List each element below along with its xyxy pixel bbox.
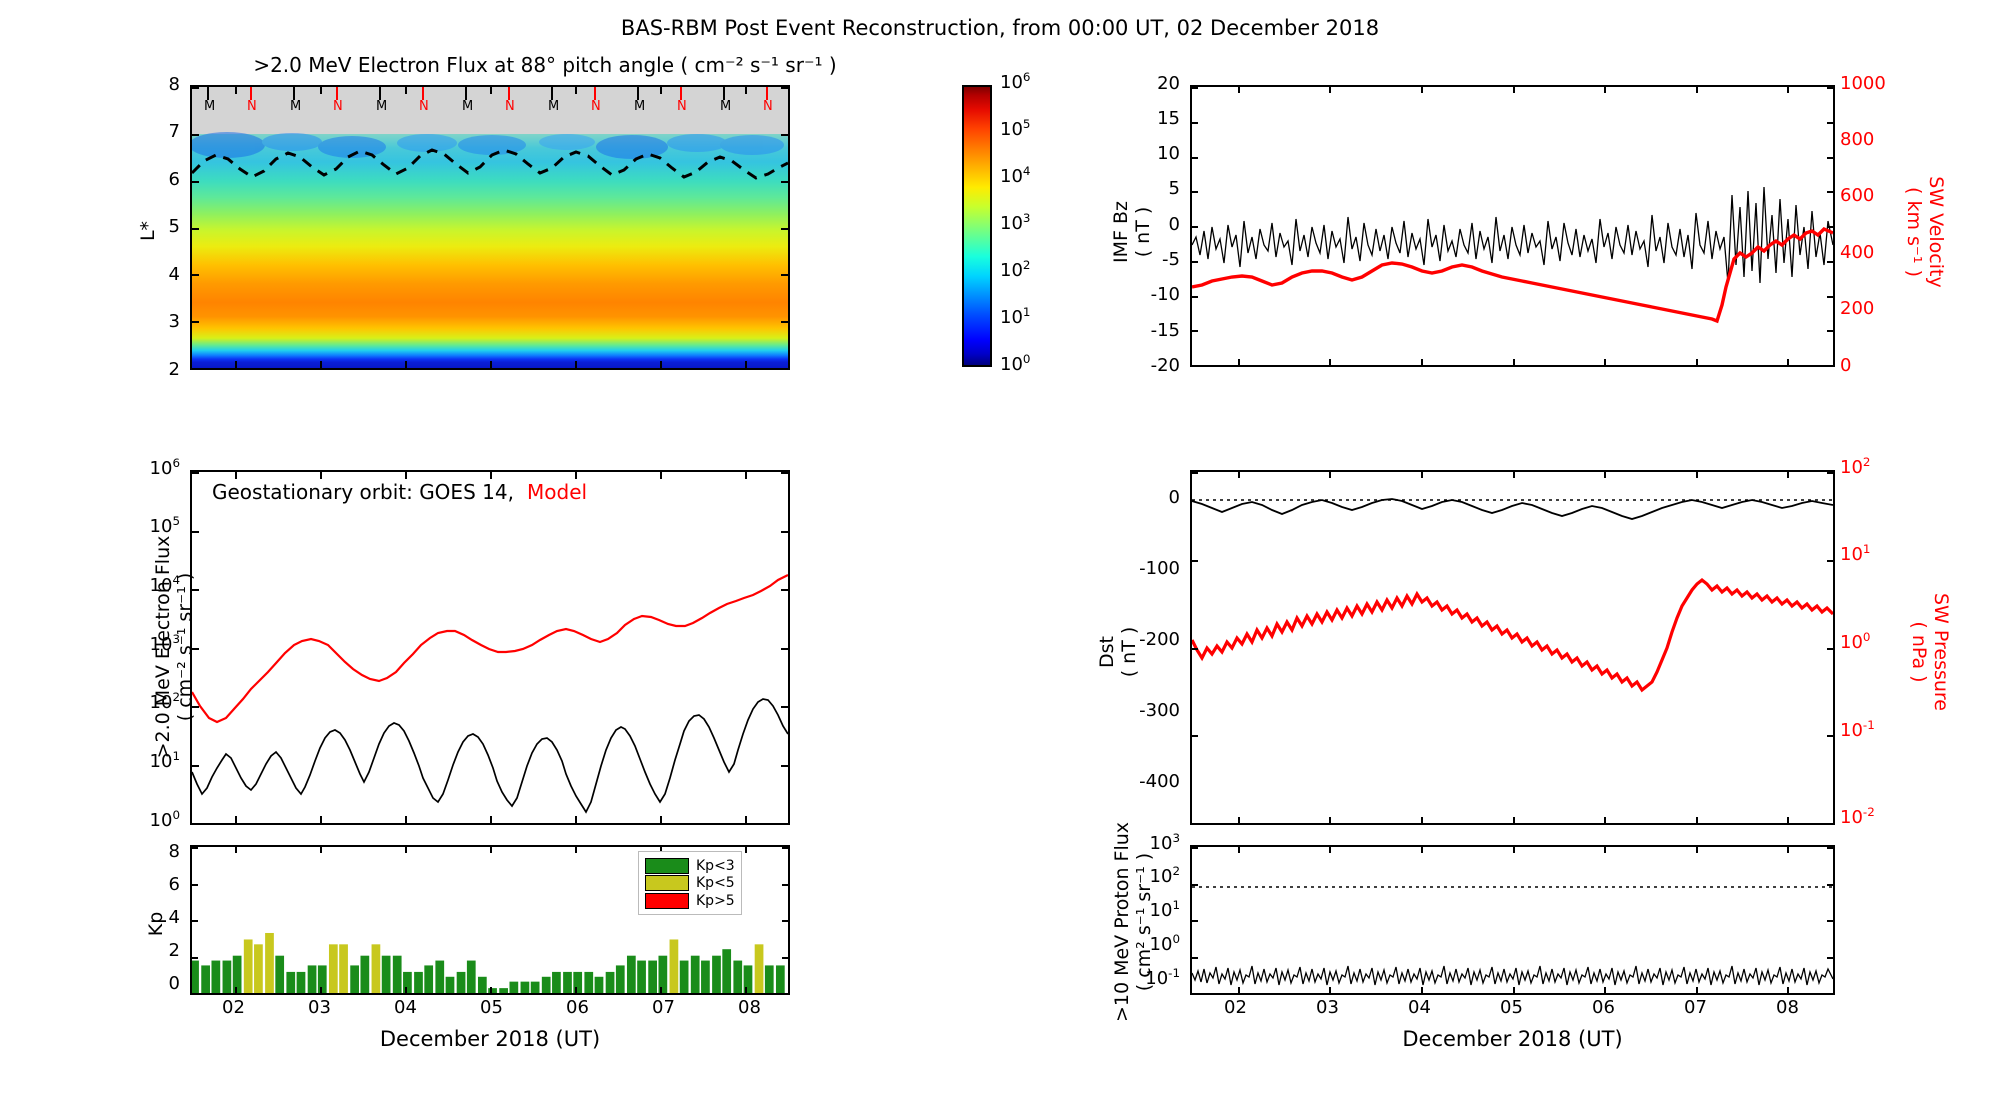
ytick: 7 <box>169 121 180 142</box>
kp-bar <box>244 939 253 993</box>
axis-tick <box>1827 157 1833 159</box>
kp-bar <box>478 977 487 993</box>
ytick-right: 0 <box>1840 355 1851 376</box>
axis-tick <box>192 993 198 995</box>
axis-tick <box>1827 330 1833 332</box>
axis-tick <box>1192 920 1198 922</box>
axis-tick <box>1421 817 1423 823</box>
axis-tick <box>1827 296 1833 298</box>
dst-plot-area <box>1190 470 1835 825</box>
strip-marker-m: M <box>290 99 301 114</box>
kp-bar <box>254 944 263 993</box>
colorbar-ticklabels: 106 105 104 103 102 101 100 <box>996 85 1052 367</box>
axis-tick <box>781 531 788 533</box>
proton-xlabel: December 2018 (UT) <box>1190 1027 1835 1051</box>
axis-tick <box>1192 87 1198 89</box>
axis-tick <box>745 361 747 368</box>
cbar-tick: 105 <box>1000 119 1030 140</box>
kp-bar <box>265 933 274 993</box>
xtick: 04 <box>394 997 417 1018</box>
ytick-right: 800 <box>1840 129 1874 150</box>
strip-marker-n: N <box>247 99 257 114</box>
sw-velocity-ylabel-line2: ( km s⁻¹ ) <box>1903 142 1925 322</box>
kp-bar <box>393 956 402 993</box>
axis-tick <box>1604 847 1606 853</box>
axis-tick <box>192 134 199 136</box>
dst-line <box>1192 499 1833 519</box>
ytick: 106 <box>150 458 180 479</box>
axis-tick <box>1513 87 1515 93</box>
kp-bar <box>223 961 232 993</box>
geo-flux-annotation: Geostationary orbit: GOES 14, Model <box>212 480 587 504</box>
ytick: 4 <box>169 907 180 928</box>
kp-bar <box>414 972 423 993</box>
kp-bar <box>467 961 476 993</box>
proton-xticks: 02 03 04 05 06 07 08 <box>1190 997 1835 1023</box>
axis-tick <box>1329 472 1331 478</box>
axis-tick <box>782 957 788 959</box>
kp-bar <box>435 961 444 993</box>
axis-tick <box>490 472 492 479</box>
axis-tick <box>1192 993 1198 995</box>
axis-tick <box>1421 359 1423 365</box>
proton-ylabel-line2: ( cm² s⁻¹ sr⁻¹ ) <box>1133 772 1155 1072</box>
sw-velocity-ylabel: SW Velocity ( km s⁻¹ ) <box>1903 142 1947 322</box>
strip-marker-m: M <box>204 99 215 114</box>
axis-tick <box>575 816 577 823</box>
imf-bz-line <box>1192 187 1833 283</box>
sw-pressure-line <box>1192 580 1833 690</box>
axis-tick <box>781 765 788 767</box>
ytick-right: 400 <box>1840 242 1874 263</box>
ytick: 6 <box>169 169 180 190</box>
axis-tick <box>405 472 407 479</box>
kp-bar <box>297 972 306 993</box>
axis-tick <box>781 368 788 370</box>
strip-marker-n: N <box>505 99 515 114</box>
ytick: -20 <box>1151 355 1180 376</box>
axis-tick <box>1421 847 1423 853</box>
axis-tick <box>575 472 577 479</box>
ytick: 8 <box>169 841 180 862</box>
ytick-right: 10-2 <box>1840 807 1875 828</box>
ytick-right: 101 <box>1840 544 1870 565</box>
legend-swatch-kp-high <box>645 893 689 909</box>
axis-tick <box>1696 472 1698 478</box>
axis-tick <box>1604 359 1606 365</box>
axis-tick <box>1827 847 1833 849</box>
ytick: 10 <box>1157 143 1180 164</box>
ytick: 2 <box>169 940 180 961</box>
axis-tick <box>1513 472 1515 478</box>
kp-bar <box>350 965 359 993</box>
geo-flux-lines <box>192 472 788 823</box>
legend-swatch-kp-mid <box>645 875 689 891</box>
axis-tick <box>782 847 788 849</box>
axis-tick <box>192 823 199 825</box>
axis-tick <box>1192 157 1198 159</box>
kp-bar <box>701 961 710 993</box>
sw-pressure-ylabel-line2: ( nPa ) <box>1908 562 1930 742</box>
cbar-tick: 103 <box>1000 213 1030 234</box>
axis-tick <box>1827 472 1833 474</box>
axis-tick <box>1192 296 1198 298</box>
imf-bz-yticks-right: 1000 800 600 400 200 0 <box>1840 85 1904 367</box>
axis-tick <box>405 816 407 823</box>
axis-tick <box>782 993 788 995</box>
axis-tick <box>660 816 662 823</box>
axis-tick <box>781 181 788 183</box>
sw-pressure-ylabel: SW Pressure ( nPa ) <box>1908 562 1952 742</box>
geo-flux-annotation-model: Model <box>527 480 587 504</box>
axis-tick <box>1421 472 1423 478</box>
axis-tick <box>192 957 198 959</box>
kp-bar <box>509 982 518 993</box>
kp-bar <box>552 972 561 993</box>
ytick: 8 <box>169 74 180 95</box>
proton-flux-line <box>1192 966 1833 985</box>
kp-bar <box>308 965 317 993</box>
axis-tick <box>192 321 199 323</box>
proton-ylabel: >10 MeV Proton Flux ( cm² s⁻¹ sr⁻¹ ) <box>1111 772 1155 1072</box>
ytick: 5 <box>169 216 180 237</box>
xtick: 05 <box>480 997 503 1018</box>
ytick-right: 102 <box>1840 457 1870 478</box>
proton-traces <box>1192 847 1833 993</box>
kp-bar <box>329 944 338 993</box>
imf-bz-panel: 20 15 10 5 0 -5 -10 -15 -20 IMF Bz ( nT … <box>1100 85 1930 370</box>
axis-tick <box>192 847 198 849</box>
axis-tick <box>745 847 747 853</box>
axis-tick <box>1192 957 1198 959</box>
axis-tick <box>192 274 199 276</box>
kp-bar <box>648 961 657 993</box>
model-flux-line <box>192 575 788 722</box>
dst-yticks-right: 102 101 100 10-1 10-2 <box>1840 470 1910 825</box>
axis-tick <box>490 816 492 823</box>
ytick-right: 600 <box>1840 185 1874 206</box>
axis-tick <box>781 589 788 591</box>
ytick: 0 <box>1169 487 1180 508</box>
axis-tick <box>1513 359 1515 365</box>
axis-tick <box>1421 87 1423 93</box>
cbar-tick: 101 <box>1000 307 1030 328</box>
axis-tick <box>1787 987 1789 993</box>
cbar-tick: 102 <box>1000 260 1030 281</box>
legend-item: Kp<3 <box>645 858 735 874</box>
kp-bar <box>691 956 700 993</box>
axis-tick <box>745 472 747 479</box>
kp-bar <box>563 972 572 993</box>
axis-tick <box>235 987 237 993</box>
axis-tick <box>1192 226 1198 228</box>
axis-tick <box>235 361 237 368</box>
kp-bar <box>201 965 210 993</box>
axis-tick <box>1238 87 1240 93</box>
legend-label: Kp<5 <box>696 875 735 891</box>
axis-tick <box>1827 261 1833 263</box>
xtick: 03 <box>1316 997 1339 1018</box>
axis-tick <box>1827 191 1833 193</box>
axis-tick <box>1238 987 1240 993</box>
axis-tick <box>781 823 788 825</box>
axis-tick <box>405 847 407 853</box>
ytick: -200 <box>1139 629 1180 650</box>
axis-tick <box>781 274 788 276</box>
sw-velocity-ylabel-line1: SW Velocity <box>1925 142 1947 322</box>
kp-bar <box>457 972 466 993</box>
kp-bar <box>776 965 785 993</box>
ytick: 100 <box>150 810 180 831</box>
ytick-right: 10-1 <box>1840 720 1875 741</box>
axis-tick <box>320 987 322 993</box>
axis-tick <box>660 472 662 479</box>
xtick: 02 <box>1224 997 1247 1018</box>
axis-tick <box>1192 823 1198 825</box>
proton-plot-area <box>1190 845 1835 995</box>
geo-flux-plot-area <box>190 470 790 825</box>
axis-tick <box>1696 87 1698 93</box>
axis-tick <box>1192 330 1198 332</box>
cbar-tick: 100 <box>1000 354 1030 375</box>
strip-marker-n: N <box>333 99 343 114</box>
axis-tick <box>1604 817 1606 823</box>
strip-marker-m: M <box>462 99 473 114</box>
axis-tick <box>1192 122 1198 124</box>
ytick: -10 <box>1151 284 1180 305</box>
axis-tick <box>235 816 237 823</box>
legend-item: Kp<5 <box>645 875 735 891</box>
geo-flux-panel: Geostationary orbit: GOES 14, Model 106 … <box>150 470 940 830</box>
legend-swatch-kp-low <box>645 858 689 874</box>
axis-tick <box>1192 884 1198 886</box>
proton-panel: 103 102 101 100 10-1 >10 MeV Proton Flux… <box>1100 845 1930 1055</box>
ytick: 2 <box>169 359 180 380</box>
axis-tick <box>660 987 662 993</box>
legend-label: Kp<3 <box>696 858 735 874</box>
axis-tick <box>575 847 577 853</box>
ytick: 20 <box>1157 73 1180 94</box>
colorbar-gradient <box>962 85 992 367</box>
kp-bar <box>521 982 530 993</box>
axis-tick <box>782 884 788 886</box>
dst-ylabel-line2: ( nT ) <box>1118 572 1140 732</box>
strip-marker-n: N <box>591 99 601 114</box>
axis-tick <box>745 987 747 993</box>
cbar-tick: 104 <box>1000 166 1030 187</box>
kp-legend: Kp<3 Kp<5 Kp>5 <box>638 851 742 915</box>
axis-tick <box>745 816 747 823</box>
axis-tick <box>1827 365 1833 367</box>
kp-xlabel: December 2018 (UT) <box>190 1027 790 1051</box>
kp-bar <box>712 956 721 993</box>
strip-marker-m: M <box>720 99 731 114</box>
cbar-tick: 106 <box>1000 72 1030 93</box>
axis-tick <box>192 181 199 183</box>
axis-tick <box>781 134 788 136</box>
axis-tick <box>1827 226 1833 228</box>
goes14-flux-line <box>192 699 788 812</box>
axis-tick <box>1787 87 1789 93</box>
flux-map-title: >2.0 MeV Electron Flux at 88° pitch angl… <box>150 53 940 77</box>
kp-bar <box>680 961 689 993</box>
ytick-right: 1000 <box>1840 73 1886 94</box>
dst-ylabel-line1: Dst <box>1096 572 1118 732</box>
axis-tick <box>405 361 407 368</box>
kp-bar <box>531 982 540 993</box>
axis-tick <box>1329 847 1331 853</box>
axis-tick <box>320 361 322 368</box>
colorbar: 106 105 104 103 102 101 100 <box>962 85 1052 367</box>
axis-tick <box>781 228 788 230</box>
axis-tick <box>1827 560 1833 562</box>
axis-tick <box>1696 359 1698 365</box>
axis-tick <box>1827 920 1833 922</box>
strip-marker-n: N <box>419 99 429 114</box>
imf-bz-plot-area <box>1190 85 1835 367</box>
axis-tick <box>320 816 322 823</box>
strip-marker-m: M <box>634 99 645 114</box>
axis-tick <box>320 847 322 853</box>
axis-tick <box>1238 817 1240 823</box>
axis-tick <box>192 884 198 886</box>
kp-ylabel: Kp <box>145 894 167 954</box>
axis-tick <box>1827 884 1833 886</box>
axis-tick <box>575 987 577 993</box>
xtick: 08 <box>738 997 761 1018</box>
axis-tick <box>320 472 322 479</box>
imf-bz-ylabel-line1: IMF Bz <box>1110 152 1132 312</box>
axis-tick <box>1827 122 1833 124</box>
axis-tick <box>781 706 788 708</box>
axis-tick <box>1192 847 1198 849</box>
axis-tick <box>1329 987 1331 993</box>
axis-tick <box>1604 472 1606 478</box>
axis-tick <box>1513 817 1515 823</box>
kp-bar <box>211 961 220 993</box>
kp-bar <box>670 939 679 993</box>
dst-ylabel: Dst ( nT ) <box>1096 572 1140 732</box>
axis-tick <box>1238 847 1240 853</box>
axis-tick <box>1787 472 1789 478</box>
kp-bar <box>424 965 433 993</box>
local-time-strip-labels: M N M N M N M N M N M N M N <box>190 99 790 129</box>
axis-tick <box>1827 823 1833 825</box>
axis-tick <box>1787 847 1789 853</box>
kp-bar <box>192 961 199 993</box>
kp-bar <box>372 944 381 993</box>
xtick: 07 <box>652 997 675 1018</box>
axis-tick <box>1192 191 1198 193</box>
axis-tick <box>192 472 199 474</box>
xtick: 06 <box>566 997 589 1018</box>
axis-tick <box>1192 648 1198 650</box>
ytick-right: 200 <box>1840 298 1874 319</box>
ytick: 3 <box>169 311 180 332</box>
axis-tick <box>1696 817 1698 823</box>
axis-tick <box>1192 365 1198 367</box>
axis-tick <box>192 228 199 230</box>
ytick: -100 <box>1139 558 1180 579</box>
axis-tick <box>575 361 577 368</box>
axis-tick <box>1696 847 1698 853</box>
axis-tick <box>235 472 237 479</box>
axis-tick <box>490 847 492 853</box>
axis-tick <box>1787 817 1789 823</box>
axis-tick <box>781 321 788 323</box>
imf-bz-traces <box>1192 87 1833 365</box>
kp-bar <box>755 944 764 993</box>
axis-tick <box>1827 993 1833 995</box>
kp-bar <box>360 956 369 993</box>
axis-tick <box>660 361 662 368</box>
imf-bz-ylabel-line2: ( nT ) <box>1132 152 1154 312</box>
kp-bar <box>446 977 455 993</box>
kp-bar <box>606 972 615 993</box>
dst-traces <box>1192 472 1833 823</box>
axis-tick <box>1329 87 1331 93</box>
sw-pressure-ylabel-line1: SW Pressure <box>1930 562 1952 742</box>
axis-tick <box>1787 359 1789 365</box>
kp-bar <box>584 972 593 993</box>
flux-map-ylabel: L* <box>137 211 159 251</box>
axis-tick <box>1513 847 1515 853</box>
kp-bar <box>275 956 284 993</box>
kp-bar <box>499 988 508 993</box>
axis-tick <box>1827 87 1833 89</box>
kp-panel: Kp<3 Kp<5 Kp>5 8 6 4 2 0 Kp 02 03 04 05 … <box>150 845 940 1055</box>
kp-bar <box>637 961 646 993</box>
axis-tick <box>490 361 492 368</box>
axis-tick <box>405 987 407 993</box>
strip-ticks <box>190 87 790 101</box>
xtick: 03 <box>308 997 331 1018</box>
ytick: 0 <box>169 973 180 994</box>
ytick: -300 <box>1139 700 1180 721</box>
kp-bar <box>627 956 636 993</box>
axis-tick <box>1696 987 1698 993</box>
xtick: 06 <box>1592 997 1615 1018</box>
kp-bar <box>286 972 295 993</box>
axis-tick <box>1513 987 1515 993</box>
figure-title: BAS-RBM Post Event Reconstruction, from … <box>0 16 2000 40</box>
ytick: 6 <box>169 874 180 895</box>
axis-tick <box>1421 987 1423 993</box>
xtick: 07 <box>1684 997 1707 1018</box>
axis-tick <box>782 920 788 922</box>
axis-tick <box>1192 472 1198 474</box>
imf-bz-ylabel: IMF Bz ( nT ) <box>1110 152 1154 312</box>
strip-marker-n: N <box>677 99 687 114</box>
dst-panel: 0 -100 -200 -300 -400 Dst ( nT ) 102 101… <box>1100 470 1930 830</box>
axis-tick <box>781 472 788 474</box>
axis-tick <box>1604 987 1606 993</box>
ytick: 4 <box>169 264 180 285</box>
axis-tick <box>235 847 237 853</box>
kp-bar <box>542 977 551 993</box>
strip-marker-m: M <box>376 99 387 114</box>
axis-tick <box>1238 359 1240 365</box>
geo-flux-annotation-text: Geostationary orbit: GOES 14, <box>212 480 514 504</box>
ytick: 0 <box>1169 214 1180 235</box>
kp-bar <box>722 949 731 993</box>
legend-label: Kp>5 <box>696 893 735 909</box>
axis-tick <box>1329 817 1331 823</box>
strip-marker-m: M <box>548 99 559 114</box>
xtick: 04 <box>1408 997 1431 1018</box>
kp-bar <box>595 977 604 993</box>
geo-flux-ylabel-line2: ( cm⁻² s⁻¹ sr⁻¹ ) <box>174 497 196 797</box>
